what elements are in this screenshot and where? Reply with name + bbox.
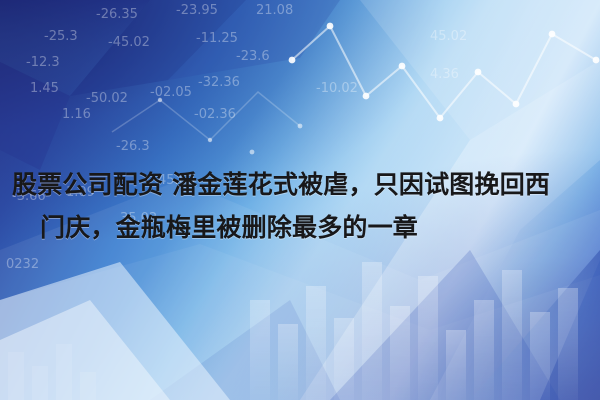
- headline-line-1: 股票公司配资 潘金莲花式被虐，只因试图挽回西: [12, 170, 550, 199]
- headline-text: 股票公司配资 潘金莲花式被虐，只因试图挽回西 门庆，金瓶梅里被删除最多的一章: [12, 163, 588, 249]
- headline-line-2: 门庆，金瓶梅里被删除最多的一章: [12, 206, 588, 249]
- banner-image: 21.08 45.02 4.36 -26.35 -23.95 -11.25 -4…: [0, 0, 600, 400]
